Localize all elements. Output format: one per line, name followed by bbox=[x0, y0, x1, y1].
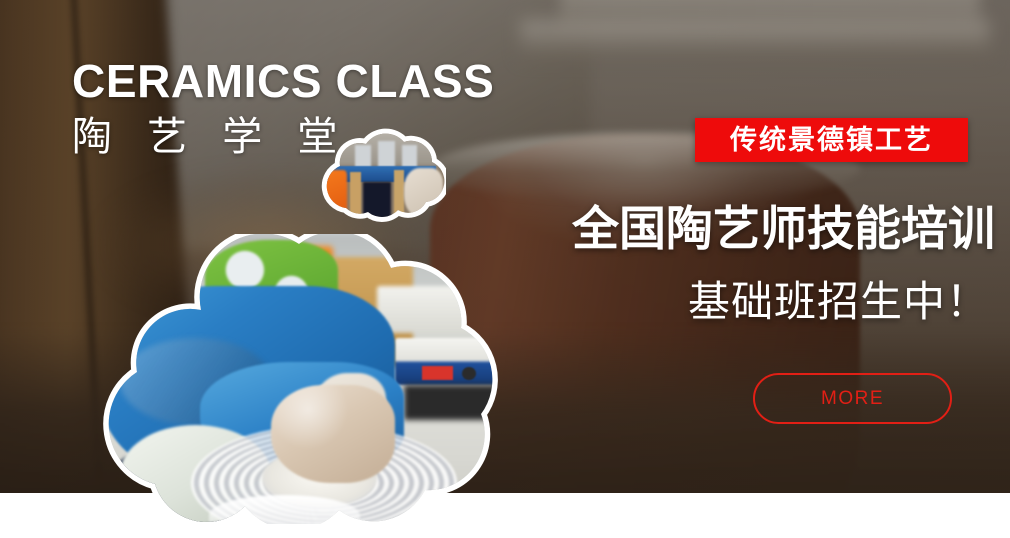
large-cloud-photo bbox=[85, 234, 528, 524]
large-cloud-svg bbox=[85, 234, 528, 524]
more-button-label: MORE bbox=[821, 389, 884, 408]
promo-headline: 全国陶艺师技能培训 bbox=[572, 203, 962, 255]
small-cloud-photo bbox=[316, 128, 446, 224]
tradition-badge-label: 传统景德镇工艺 bbox=[730, 127, 933, 154]
promo-subline: 基础班招生中！ bbox=[688, 278, 968, 326]
ceramics-class-banner: CERAMICS CLASS 陶 艺 学 堂 bbox=[0, 0, 1010, 538]
small-cloud-svg bbox=[316, 128, 446, 224]
tradition-badge: 传统景德镇工艺 bbox=[695, 118, 968, 162]
headline-english: CERAMICS CLASS bbox=[72, 56, 494, 106]
more-button[interactable]: MORE bbox=[753, 373, 952, 424]
